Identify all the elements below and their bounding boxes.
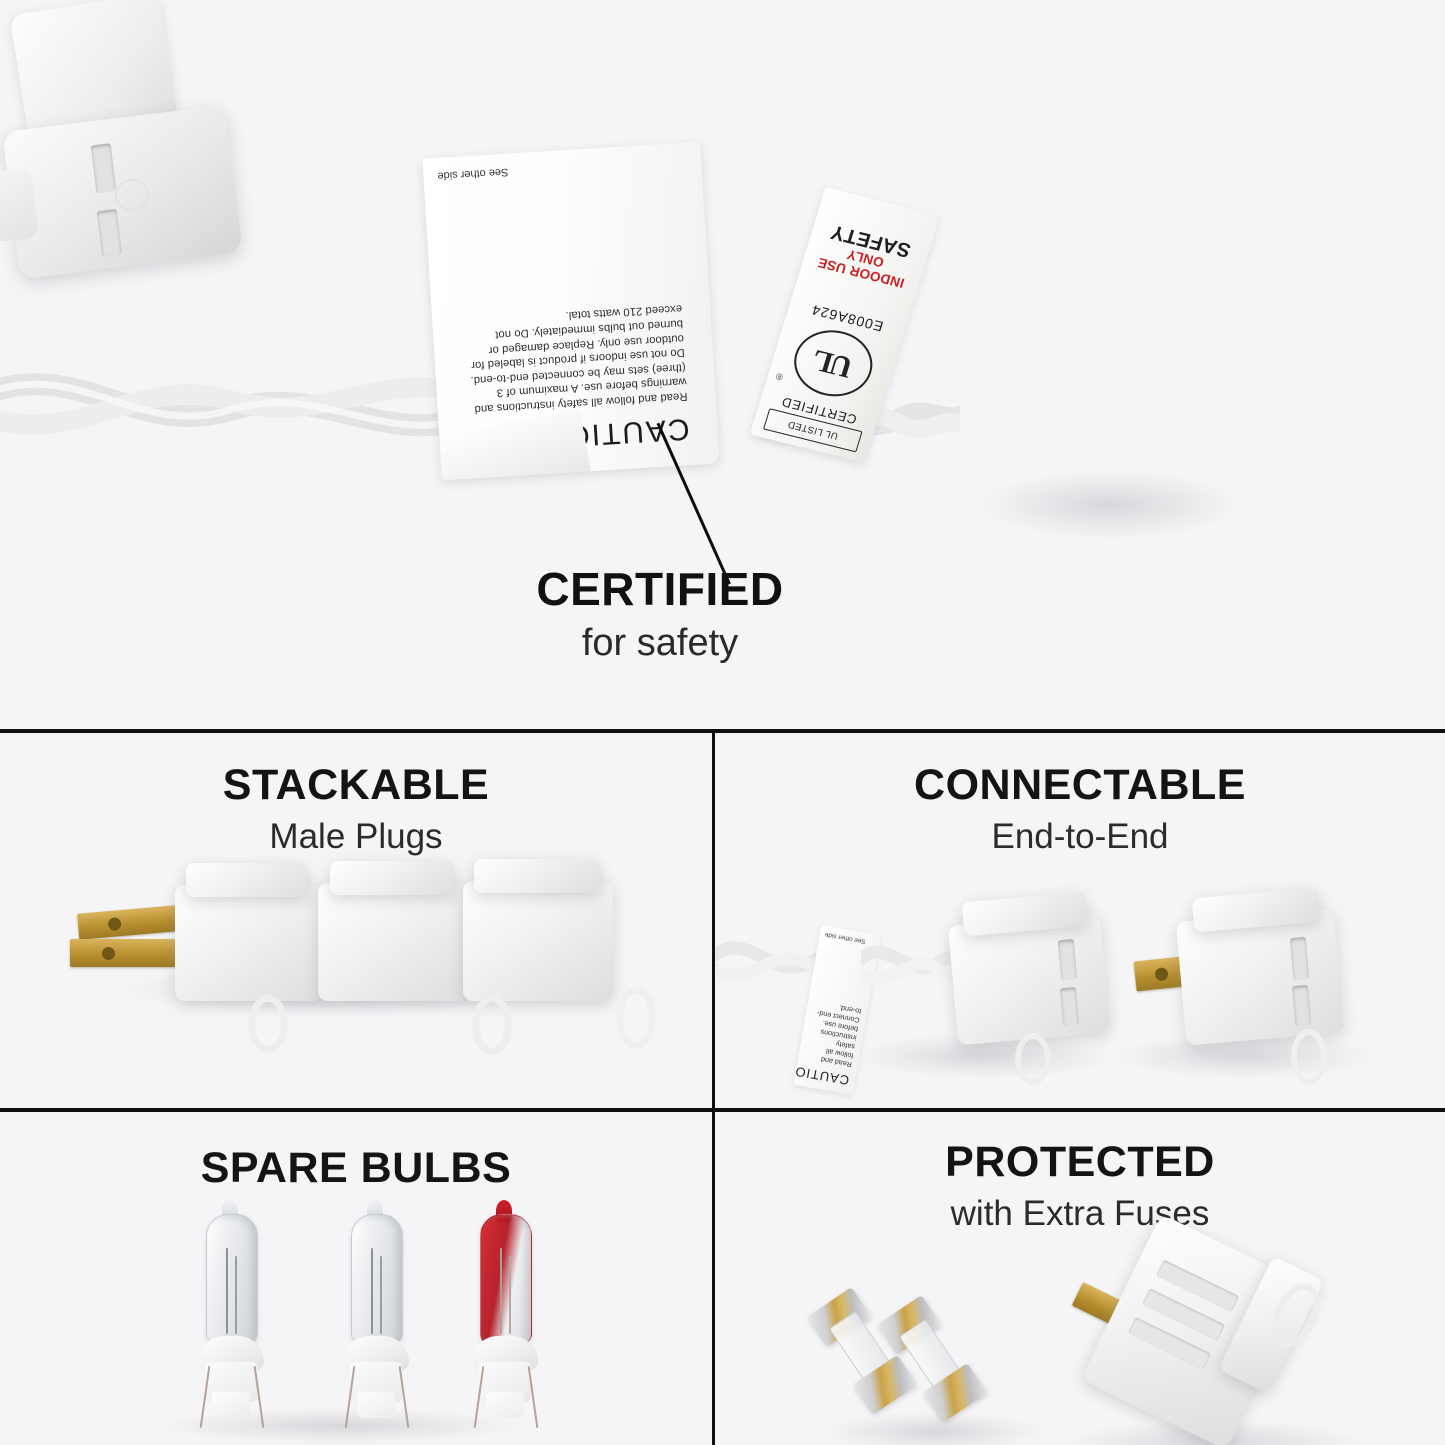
- male-plug-1: [175, 885, 323, 1001]
- ul-logo-icon: UL: [786, 322, 881, 404]
- male-plug-3: [463, 881, 613, 1001]
- caution-tag: CAUTION Read and follow all safety instr…: [422, 142, 719, 480]
- wire-loop: [1015, 1033, 1051, 1085]
- caution-body: Read and follow all safety instructions …: [448, 301, 688, 417]
- spare-bulbs-heading: SPARE BULBS: [0, 1144, 712, 1193]
- plug-prong-icon: [70, 939, 188, 967]
- male-plug-1-top: [186, 863, 308, 897]
- stackable-heading: STACKABLE: [0, 761, 712, 810]
- panel-protected: PROTECTED with Extra Fuses: [715, 1112, 1445, 1445]
- plug-base: [2, 105, 242, 279]
- plug-prong-icon: [1134, 957, 1185, 992]
- plug-wing: [0, 168, 38, 243]
- ul-logo-text: UL: [810, 342, 857, 384]
- protected-heading: PROTECTED: [715, 1138, 1445, 1187]
- hero-plug-image: [0, 0, 253, 267]
- bulb-red: [462, 1200, 548, 1418]
- panel-spare-bulbs: SPARE BULBS: [0, 1112, 712, 1445]
- wire-loop: [616, 987, 656, 1049]
- plug-shadow: [980, 470, 1240, 540]
- protected-subheading: with Extra Fuses: [715, 1194, 1445, 1234]
- connectable-subheading: End-to-End: [715, 817, 1445, 857]
- hero-panel: CAUTION Read and follow all safety instr…: [0, 0, 1445, 729]
- registered-symbol: ®: [775, 371, 784, 382]
- certified-callout-heading: CERTIFIED: [400, 562, 920, 616]
- wire-loop: [1291, 1029, 1327, 1085]
- wire-loop: [248, 995, 288, 1053]
- plug-prong-icon: [77, 904, 189, 939]
- male-plug-3-top: [474, 859, 600, 893]
- bulb-clear-1: [188, 1200, 274, 1418]
- certified-callout-subheading: for safety: [400, 622, 920, 665]
- bulb-clear-2: [333, 1200, 419, 1418]
- wire-loop: [472, 995, 512, 1055]
- caution-footer: See other side: [437, 166, 509, 182]
- infographic-page: PLUG FEATURES CAUTION Read and follow al…: [0, 0, 1445, 1445]
- panel-stackable: STACKABLE Male Plugs: [0, 733, 712, 1108]
- male-plug-2-top: [330, 861, 454, 895]
- stackable-subheading: Male Plugs: [0, 817, 712, 857]
- connectable-heading: CONNECTABLE: [715, 761, 1445, 810]
- male-plug-2: [318, 883, 468, 1001]
- panel-connectable: CONNECTABLE End-to-End CAUTION Read and …: [715, 733, 1445, 1108]
